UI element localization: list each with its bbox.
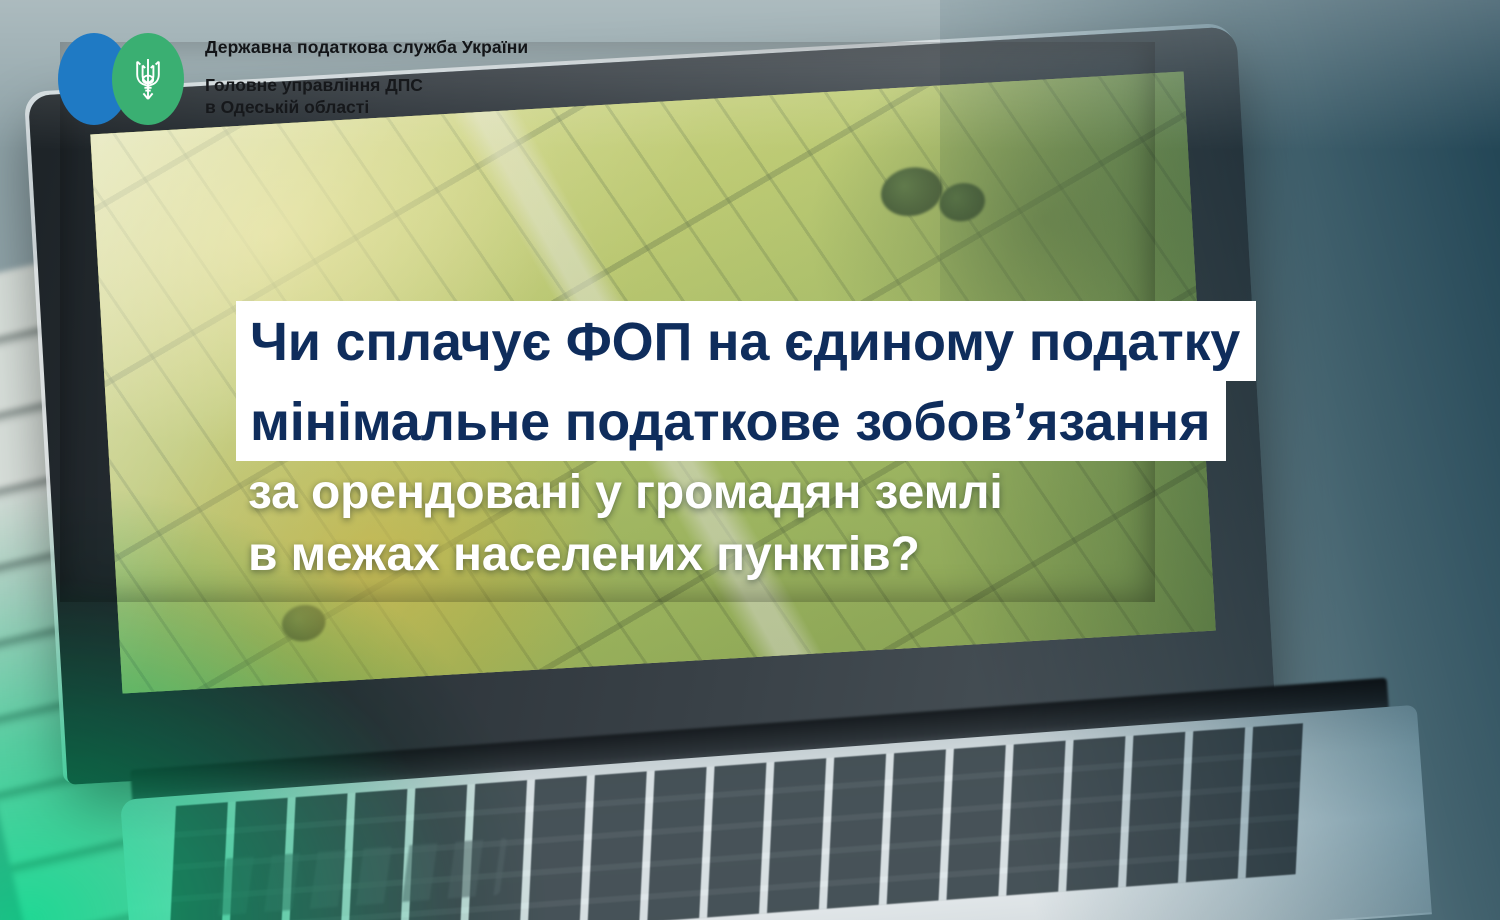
agency-name: Державна податкова служба України xyxy=(205,39,528,57)
logo-green-circle-icon xyxy=(112,33,184,125)
headline-line-1: Чи сплачує ФОП на єдиному податку xyxy=(236,301,1256,381)
tree-cluster-icon xyxy=(876,162,947,222)
brand-header: Державна податкова служба України Головн… xyxy=(58,33,528,125)
subheadline: за орендовані у громадян землі в межах н… xyxy=(248,462,1003,587)
subheadline-line-1: за орендовані у громадян землі xyxy=(248,462,1003,524)
headline-line-2: мінімальне податкове зобов’язання xyxy=(236,381,1226,461)
office-name: Головне управління ДПС в Одеській област… xyxy=(205,74,528,119)
headline-row: Чи сплачує ФОП на єдиному податку xyxy=(236,301,1256,381)
headline-row: мінімальне податкове зобов’язання xyxy=(236,381,1256,461)
ukraine-trident-icon xyxy=(130,55,166,103)
subheadline-line-2: в межах населених пунктів? xyxy=(248,524,1003,586)
office-name-line1: Головне управління ДПС xyxy=(205,74,528,96)
brand-text-block: Державна податкова служба України Головн… xyxy=(205,39,528,118)
office-name-line2: в Одеській області xyxy=(205,96,528,118)
infographic-banner: Державна податкова служба України Головн… xyxy=(0,0,1500,920)
headline: Чи сплачує ФОП на єдиному податку мініма… xyxy=(236,301,1256,461)
